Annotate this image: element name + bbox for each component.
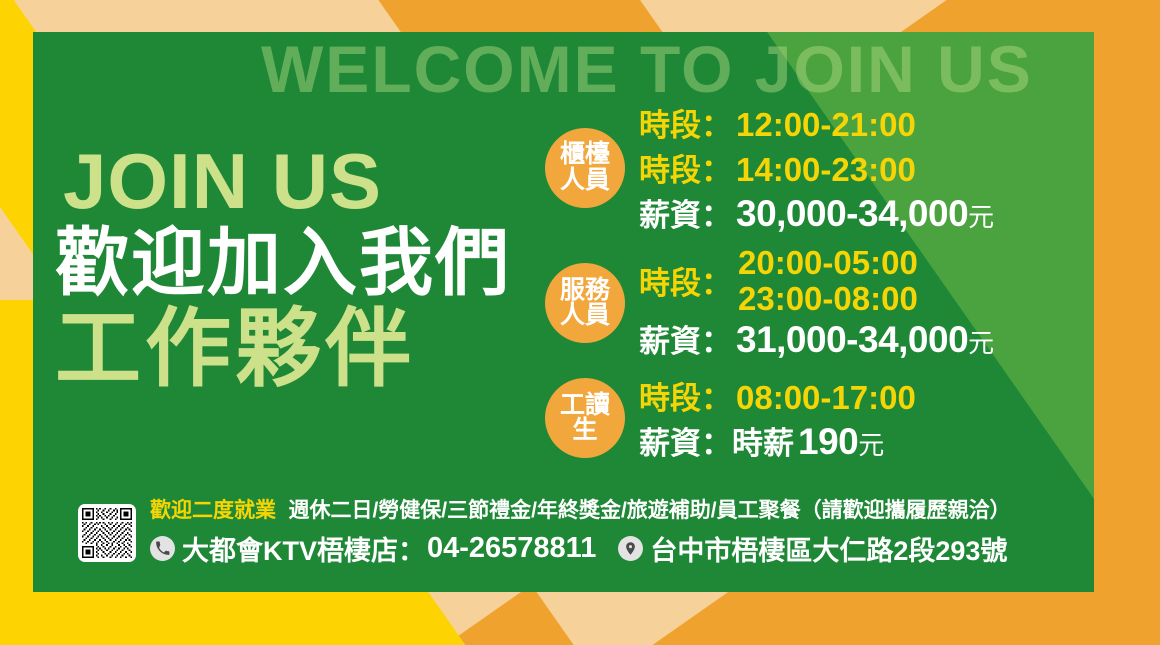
time-label: 時段： bbox=[639, 258, 732, 303]
pay-label: 薪資： bbox=[639, 190, 732, 235]
headline-partner-cn: 工作夥伴 bbox=[55, 304, 555, 394]
job-pay-row: 薪資：時薪 190 元 bbox=[639, 418, 1090, 463]
pay-value: 31,000-34,000 bbox=[736, 319, 968, 361]
time-label: 時段： bbox=[639, 145, 732, 190]
benefits-highlight: 歡迎二度就業 bbox=[150, 499, 276, 522]
pay-unit: 元 bbox=[968, 323, 994, 360]
job-badge-label: 服務人員 bbox=[557, 278, 613, 329]
job-details: 時段： 08:00-17:00 薪資：時薪 190 元 bbox=[639, 373, 1090, 463]
phone-number[interactable]: 04-26578811 bbox=[427, 532, 596, 565]
job-entry: 工讀生 時段： 08:00-17:00 薪資：時薪 190 元 bbox=[545, 373, 1090, 463]
qr-code[interactable] bbox=[78, 504, 136, 562]
recruitment-poster: WELCOME TO JOIN US JOIN US 歡迎加入我們 工作夥伴 櫃… bbox=[0, 0, 1160, 645]
job-pay-row: 薪資： 31,000-34,000 元 bbox=[639, 316, 1090, 361]
job-entry: 服務人員 時段： 20:00-05:00 23:00-08:00 薪資： 31,… bbox=[545, 245, 1090, 361]
time-value-stack: 20:00-05:00 23:00-08:00 bbox=[738, 245, 918, 316]
job-details: 時段： 12:00-21:00 時段： 14:00-23:00 薪資： 30,0… bbox=[639, 100, 1090, 235]
address: 台中市梧棲區大仁路2段293號 bbox=[650, 529, 1007, 568]
job-details: 時段： 20:00-05:00 23:00-08:00 薪資： 31,000-3… bbox=[639, 245, 1090, 361]
location-pin-icon bbox=[618, 536, 643, 561]
job-badge-service: 服務人員 bbox=[545, 263, 625, 343]
phone-icon bbox=[150, 536, 175, 561]
time-label: 時段： bbox=[639, 373, 732, 418]
headline-welcome-cn: 歡迎加入我們 bbox=[55, 224, 555, 302]
decor-yellow-block-left bbox=[0, 300, 36, 645]
benefits-list: 週休二日/勞健保/三節禮金/年終獎金/旅遊補助/員工聚餐（請歡迎攜履歷親洽） bbox=[288, 499, 1010, 522]
time-value: 20:00-05:00 bbox=[738, 245, 918, 281]
time-value: 14:00-23:00 bbox=[736, 151, 916, 189]
time-label: 時段： bbox=[639, 100, 732, 145]
job-pay-row: 薪資： 30,000-34,000 元 bbox=[639, 190, 1090, 235]
job-badge-parttime: 工讀生 bbox=[545, 378, 625, 458]
footer: 歡迎二度就業 週休二日/勞健保/三節禮金/年終獎金/旅遊補助/員工聚餐（請歡迎攜… bbox=[78, 494, 1068, 568]
pay-unit: 元 bbox=[968, 197, 994, 234]
job-time-row: 時段： 20:00-05:00 23:00-08:00 bbox=[639, 245, 1090, 316]
shop-name: 大都會KTV梧棲店： bbox=[182, 529, 425, 568]
green-panel: WELCOME TO JOIN US JOIN US 歡迎加入我們 工作夥伴 櫃… bbox=[33, 32, 1094, 592]
watermark-title: WELCOME TO JOIN US bbox=[261, 36, 1033, 102]
pay-value: 190 bbox=[798, 421, 858, 463]
job-time-row: 時段： 12:00-21:00 bbox=[639, 100, 1090, 145]
pay-label: 薪資：時薪 bbox=[639, 418, 794, 463]
time-value: 12:00-21:00 bbox=[736, 106, 916, 144]
pay-value: 30,000-34,000 bbox=[736, 193, 968, 235]
job-badge-label: 櫃檯人員 bbox=[557, 142, 613, 193]
benefits-line: 歡迎二度就業 週休二日/勞健保/三節禮金/年終獎金/旅遊補助/員工聚餐（請歡迎攜… bbox=[150, 494, 1068, 524]
headline-join-us: JOIN US bbox=[63, 142, 555, 220]
job-entry: 櫃檯人員 時段： 12:00-21:00 時段： 14:00-23:00 薪資：… bbox=[545, 100, 1090, 235]
job-badge-label: 工讀生 bbox=[557, 393, 613, 444]
job-badge-counter: 櫃檯人員 bbox=[545, 128, 625, 208]
pay-unit: 元 bbox=[858, 425, 884, 462]
time-value: 08:00-17:00 bbox=[736, 379, 916, 417]
pay-label: 薪資： bbox=[639, 316, 732, 361]
time-value: 23:00-08:00 bbox=[738, 281, 918, 317]
contact-line: 大都會KTV梧棲店： 04-26578811 台中市梧棲區大仁路2段293號 bbox=[150, 529, 1068, 568]
headline-block: JOIN US 歡迎加入我們 工作夥伴 bbox=[55, 142, 555, 394]
job-time-row: 時段： 14:00-23:00 bbox=[639, 145, 1090, 190]
job-time-row: 時段： 08:00-17:00 bbox=[639, 373, 1090, 418]
job-list: 櫃檯人員 時段： 12:00-21:00 時段： 14:00-23:00 薪資：… bbox=[545, 100, 1090, 473]
